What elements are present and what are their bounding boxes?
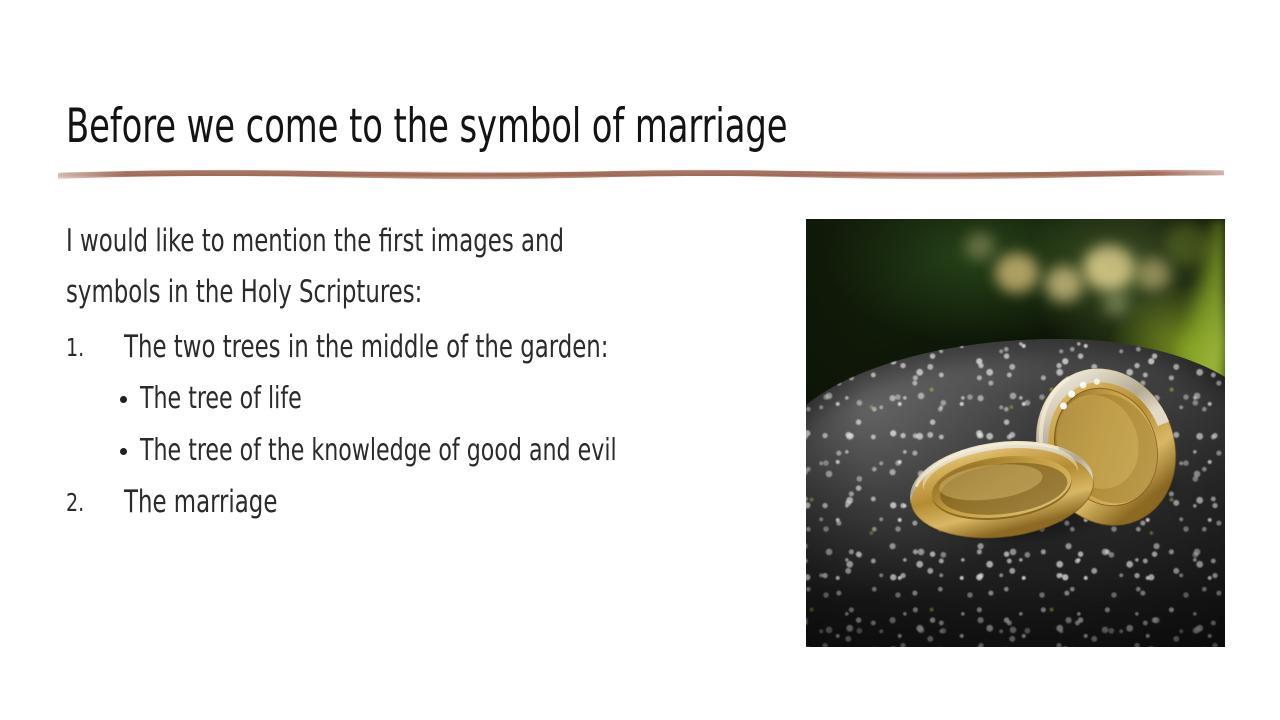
wedding-rings-photo [806, 219, 1225, 647]
list-marker: 2. [66, 477, 103, 528]
page-title: Before we come to the symbol of marriage [66, 99, 994, 155]
sub-bullet-text: The tree of life [140, 373, 302, 425]
intro-line-2: symbols in the Holy Scriptures: [66, 267, 640, 318]
wedding-rings-group [806, 219, 1225, 647]
slide-canvas: Before we come to the symbol of marriage [0, 0, 1280, 720]
list-item: The tree of life [66, 373, 766, 425]
sub-bullet-list: The tree of life The tree of the knowled… [66, 373, 766, 477]
list-marker: 1. [66, 322, 103, 373]
list-item-text: The marriage [124, 477, 277, 528]
intro-line-1: I would like to mention the first images… [66, 216, 640, 267]
numbered-list: 1. The two trees in the middle of the ga… [66, 322, 766, 528]
body-content: I would like to mention the first images… [66, 216, 766, 528]
sub-bullet-text: The tree of the knowledge of good and ev… [140, 425, 617, 477]
list-item: The tree of the knowledge of good and ev… [66, 425, 766, 477]
bullet-dot-icon [120, 448, 127, 455]
title-block: Before we come to the symbol of marriage [66, 99, 1226, 161]
list-item: 2. The marriage [66, 477, 766, 528]
title-divider-brushstroke [56, 160, 1226, 184]
list-item-text: The two trees in the middle of the garde… [124, 322, 609, 373]
bullet-dot-icon [120, 396, 127, 403]
list-item: 1. The two trees in the middle of the ga… [66, 322, 766, 373]
